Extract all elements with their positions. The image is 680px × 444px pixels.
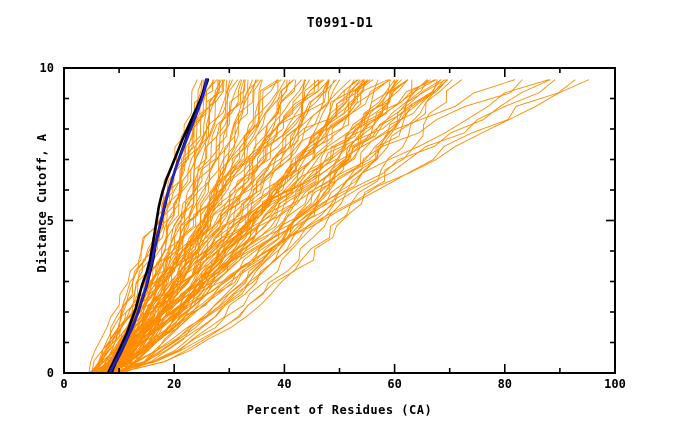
y-axis-label: Distance Cutoff, A <box>35 73 49 333</box>
prediction-curves <box>89 80 589 373</box>
y-tick-label: 5 <box>28 214 54 228</box>
chart-canvas: T0991-D1 Distance Cutoff, A Percent of R… <box>0 0 680 440</box>
plot-area <box>0 0 680 440</box>
y-tick-label: 0 <box>28 366 54 380</box>
x-tick-label: 60 <box>387 377 401 391</box>
x-axis-label: Percent of Residues (CA) <box>64 403 615 417</box>
plot-svg <box>0 0 680 440</box>
x-tick-label: 80 <box>498 377 512 391</box>
x-tick-label: 100 <box>604 377 626 391</box>
x-tick-label: 0 <box>60 377 67 391</box>
x-tick-label: 40 <box>277 377 291 391</box>
x-tick-label: 20 <box>167 377 181 391</box>
y-tick-label: 10 <box>28 61 54 75</box>
